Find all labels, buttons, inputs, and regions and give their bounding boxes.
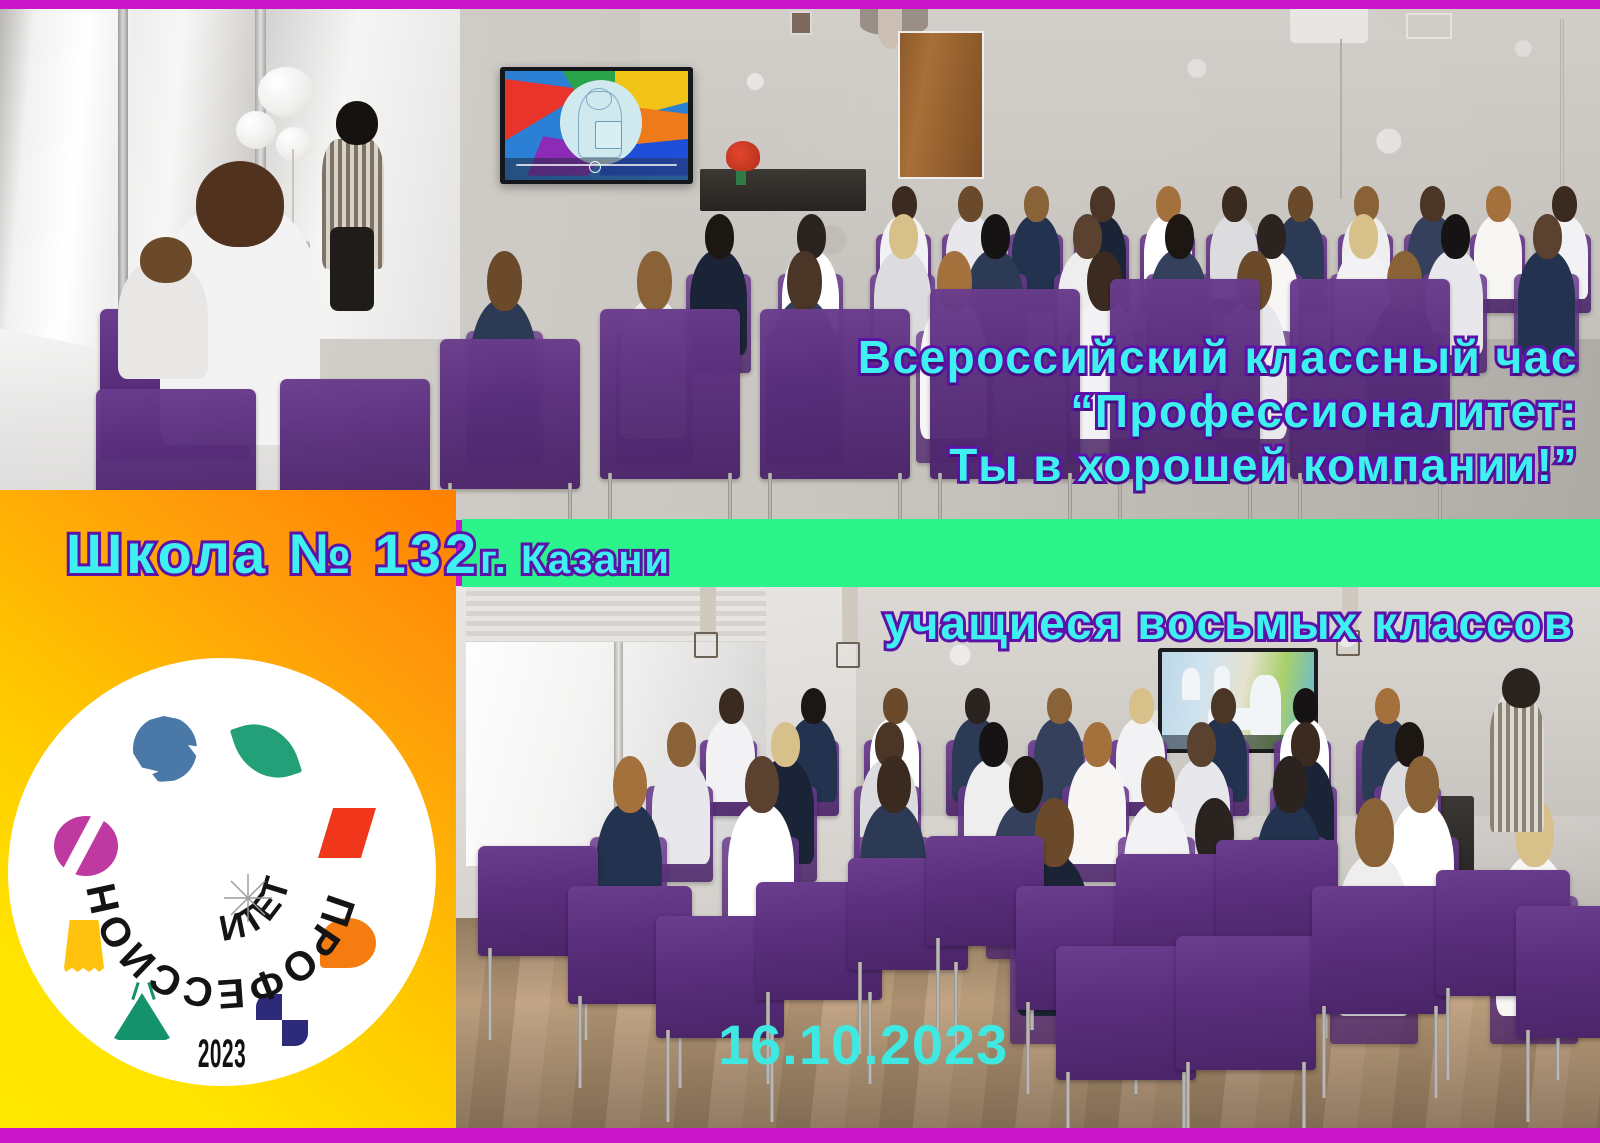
red-flower-icon — [726, 141, 760, 171]
pendant-lamp-icon — [836, 642, 860, 668]
audience-member-head — [1083, 722, 1113, 767]
audience-member-head — [667, 722, 697, 767]
audience-member-head — [1405, 756, 1439, 813]
audience-member-head — [1024, 186, 1049, 222]
audience-member-head — [787, 251, 821, 311]
svg-text:ПРОФЕССИОНАЛ: ПРОФЕССИОНАЛ — [8, 658, 364, 1018]
school-city: г. Казани — [480, 538, 671, 582]
audience-member-head — [771, 722, 801, 767]
audience-member-head — [889, 214, 918, 259]
audience-member-head — [1293, 688, 1318, 724]
audience-member-head — [1441, 214, 1470, 259]
audience-member-head — [1533, 214, 1562, 259]
professionalitet-logo: ПРОФЕССИОНАЛ ИТЕТ 2023 — [8, 658, 436, 1086]
flower-icon — [276, 127, 312, 161]
audience-member-head — [487, 251, 521, 311]
audience-member-head — [1222, 186, 1247, 222]
chair-leg — [1026, 1002, 1030, 1094]
chair-leg — [1302, 1062, 1306, 1128]
audience-member-head — [1288, 186, 1313, 222]
door-icon — [898, 31, 984, 179]
side-table — [700, 169, 866, 211]
presenter-legs — [330, 227, 374, 311]
chair — [1056, 946, 1196, 1080]
wall-box-icon — [1406, 13, 1452, 39]
audience-member-head — [1211, 688, 1236, 724]
chair-leg — [1186, 1062, 1190, 1128]
air-conditioner-icon — [1290, 9, 1368, 43]
chair-leg — [578, 996, 582, 1088]
window-blind-icon — [466, 586, 766, 642]
logo-year: 2023 — [198, 1032, 246, 1077]
chair-leg — [1322, 1006, 1326, 1098]
audience-member-head — [979, 722, 1009, 767]
audience-member-head — [1165, 214, 1194, 259]
event-title: Всероссийский классный час “Профессионал… — [858, 330, 1578, 492]
chair-leg — [728, 473, 732, 520]
audience-member-head — [1141, 756, 1175, 813]
chair-leg — [768, 473, 772, 520]
frame-top-border — [0, 0, 1600, 9]
frame-bottom-border — [0, 1128, 1600, 1143]
audience-member-head — [1420, 186, 1445, 222]
pendant-lamp-icon — [694, 632, 718, 658]
audience-member-head — [719, 688, 744, 724]
wall-picture-icon — [790, 11, 812, 35]
chair-leg — [666, 1030, 670, 1122]
chair — [1516, 906, 1600, 1038]
chair — [1312, 886, 1448, 1014]
chair-leg — [1066, 1072, 1070, 1128]
chair-leg — [1526, 1030, 1530, 1122]
audience-member-head — [801, 688, 826, 724]
audience-member-head — [1486, 186, 1511, 222]
audience-member-head — [1273, 756, 1307, 813]
audience-member-head — [877, 756, 911, 813]
cable-icon — [1340, 39, 1342, 199]
presenter — [1490, 702, 1544, 832]
event-title-line-3: Ты в хорошей компании!” — [858, 438, 1578, 492]
flower-icon — [236, 111, 276, 149]
flower-icon — [258, 67, 314, 117]
audience-member-head — [705, 214, 734, 259]
lamp-cord — [700, 586, 716, 632]
audience-member-head — [613, 756, 647, 813]
audience-member-head — [981, 214, 1010, 259]
audience-member-head — [1047, 688, 1072, 724]
audience-member-head — [1349, 214, 1378, 259]
chair-leg — [1434, 1006, 1438, 1098]
chair-leg — [608, 473, 612, 520]
chair — [440, 339, 580, 489]
audience-member-head — [1552, 186, 1577, 222]
school-name: Школа № 132 — [66, 522, 480, 585]
photo-bottom — [456, 586, 1600, 1128]
chair-leg — [568, 483, 572, 520]
event-title-line-1: Всероссийский классный час — [858, 330, 1578, 384]
logo-star-icon — [222, 872, 274, 924]
event-date: 16.10.2023 — [718, 1012, 1008, 1077]
audience-member-head — [745, 756, 779, 813]
audience-member-head — [196, 161, 284, 247]
audience-member-head — [1009, 756, 1043, 813]
audience-member-head — [1355, 798, 1394, 867]
audience-member-head — [637, 251, 671, 311]
grade-line: учащиеся восьмых классов — [884, 598, 1574, 648]
chair-leg — [488, 948, 492, 1040]
audience-member-head — [1187, 722, 1217, 767]
presenter-head — [336, 101, 378, 145]
audience-member-head — [883, 688, 908, 724]
poster: ПРОФЕССИОНАЛ ИТЕТ 2023 Всероссийский кла… — [0, 0, 1600, 1143]
audience-member-head — [1375, 688, 1400, 724]
audience-member-head — [1129, 688, 1154, 724]
school-name-line: Школа № 132г. Казани — [66, 524, 671, 590]
chair-leg — [1446, 988, 1450, 1080]
audience-member-head — [140, 237, 192, 283]
audience-member-head — [965, 688, 990, 724]
presentation-screen — [500, 67, 693, 184]
presenter-head — [1502, 668, 1540, 708]
lamp-cord — [842, 586, 858, 642]
chair — [1176, 936, 1316, 1070]
audience-member-head — [958, 186, 983, 222]
video-tablet-icon — [595, 121, 622, 149]
screen-content — [505, 71, 688, 180]
chair — [600, 309, 740, 479]
event-title-line-2: “Профессионалитет: — [858, 384, 1578, 438]
